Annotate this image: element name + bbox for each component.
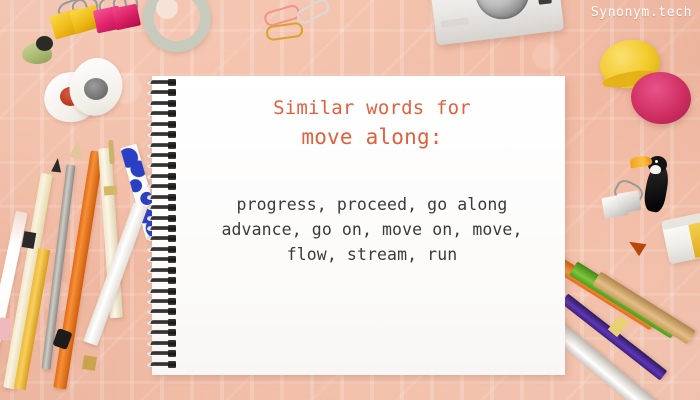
pencil-orange-tip: [69, 139, 86, 159]
spiral-cap: [168, 235, 176, 242]
spiral-ring: [146, 309, 179, 314]
spiral-binding: [146, 80, 186, 372]
spiral-ring: [146, 101, 179, 106]
spiral-ring: [146, 289, 179, 294]
spiral-cap: [168, 142, 176, 149]
spiral-cap: [168, 100, 176, 107]
green-stone-cap: [36, 36, 53, 51]
spiral-ring: [146, 143, 179, 148]
site-watermark: Synonym.tech: [591, 5, 692, 20]
spiral-cap: [168, 121, 176, 128]
spiral-ring: [146, 153, 179, 158]
spiral-ring: [146, 184, 179, 189]
spiral-cap: [168, 329, 176, 336]
spiral-cap: [168, 79, 176, 86]
spiral-ring: [146, 278, 179, 283]
green-stone: [22, 36, 54, 64]
spiral-cap: [168, 267, 176, 274]
spiral-cap: [168, 110, 176, 117]
spiral-ring: [146, 320, 179, 325]
spiral-cap: [168, 183, 176, 190]
spiral-cap: [168, 89, 176, 96]
spiral-ring: [146, 90, 179, 95]
note-content: Similar words for move along: progress, …: [186, 95, 558, 267]
pencil-orange-ferrule: [82, 355, 97, 371]
spiral-cap: [168, 256, 176, 263]
spiral-ring: [146, 330, 179, 335]
pen-cream-band: [104, 186, 118, 196]
clip-body: [112, 4, 141, 31]
spiral-ring: [146, 257, 179, 262]
spiral-ring: [146, 236, 179, 241]
spiral-ring: [146, 351, 179, 356]
toucan-throat: [650, 165, 661, 174]
spiral-cap: [168, 131, 176, 138]
spiral-ring: [146, 362, 179, 367]
binder-clip-magenta: [95, 2, 143, 36]
pencil-graphite-tip: [51, 157, 63, 172]
spiral-cap: [168, 246, 176, 253]
binder-clip-silver: [603, 186, 645, 220]
spiral-ring: [146, 163, 179, 168]
note-headword: move along:: [186, 122, 558, 152]
spiral-cap: [168, 225, 176, 232]
camera-flash-icon: [538, 0, 552, 5]
spiral-ring: [146, 111, 179, 116]
note-title-line1: Similar words for: [186, 95, 558, 122]
spiral-cap: [168, 308, 176, 315]
synonym-line: progress, proceed, go along: [186, 192, 558, 217]
spiral-ring: [146, 216, 179, 221]
spiral-ring: [146, 132, 179, 137]
camera-grip: [440, 18, 469, 28]
spiral-ring: [146, 341, 179, 346]
spiral-ring: [146, 174, 179, 179]
spiral-ring: [146, 80, 179, 85]
spiral-cap: [168, 194, 176, 201]
eraser-gray-center: [84, 78, 108, 100]
spiral-ring: [146, 122, 179, 127]
spiral-cap: [168, 298, 176, 305]
synonym-line: flow, stream, run: [186, 242, 558, 267]
spiral-cap: [168, 340, 176, 347]
spiral-cap: [168, 204, 176, 211]
spiral-ring: [146, 195, 179, 200]
spiral-ring: [146, 299, 179, 304]
spiral-cap: [168, 215, 176, 222]
desk-scene: Similar words for move along: progress, …: [0, 0, 700, 400]
spiral-cap: [168, 288, 176, 295]
spiral-cap: [168, 152, 176, 159]
spiral-ring: [146, 268, 179, 273]
spiral-cap: [168, 173, 176, 180]
camera-lens-icon: [472, 0, 532, 22]
spiral-ring: [146, 205, 179, 210]
jar-band: [688, 220, 700, 258]
clip-body: [616, 190, 641, 214]
spiral-cap: [168, 350, 176, 357]
spiral-cap: [168, 361, 176, 368]
spiral-ring: [146, 247, 179, 252]
spiral-ring: [146, 226, 179, 231]
toucan-eye-icon: [655, 160, 658, 163]
spiral-cap: [168, 162, 176, 169]
spiral-cap: [168, 277, 176, 284]
synonym-list: progress, proceed, go along advance, go …: [186, 192, 558, 267]
synonym-line: advance, go on, move on, move,: [186, 217, 558, 242]
spiral-cap: [168, 319, 176, 326]
